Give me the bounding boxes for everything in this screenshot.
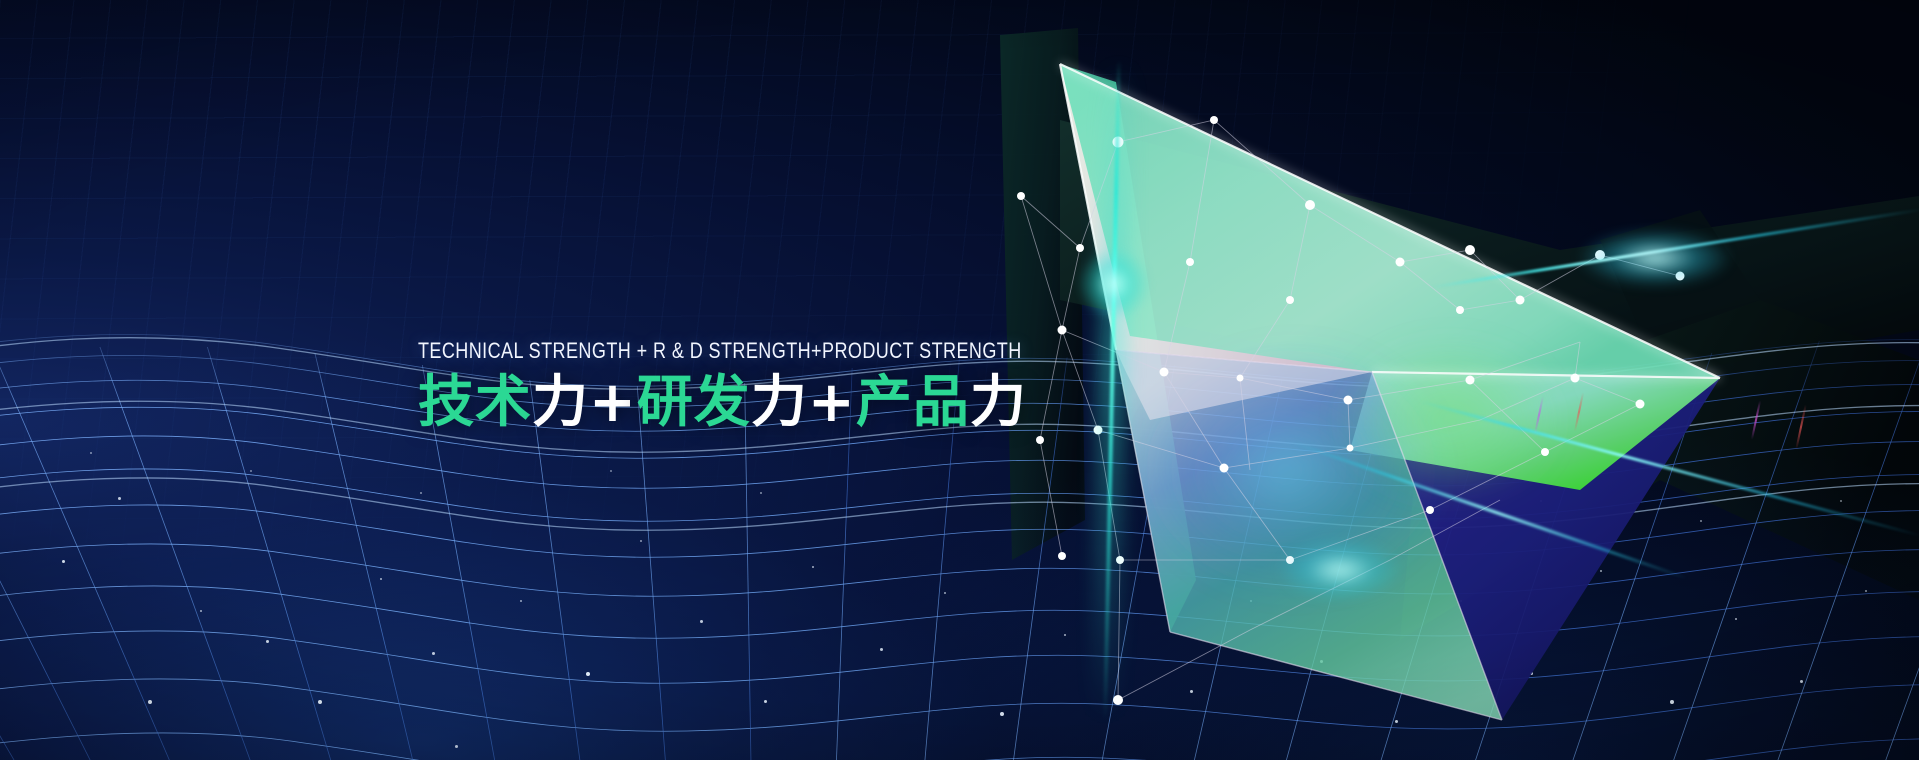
- headline-seg-7: 产品: [856, 370, 970, 435]
- headline-seg-3: +: [589, 370, 637, 435]
- headline-seg-2: 力: [532, 370, 589, 435]
- headline-seg-1: 技术: [418, 370, 532, 435]
- prism-green-blob: [1340, 340, 1560, 500]
- hero-headline: 技术力+研发力+产品力: [418, 372, 1154, 435]
- hero-eyebrow: TECHNICAL STRENGTH + R & D STRENGTH+PROD…: [418, 338, 1022, 364]
- hero-banner: TECHNICAL STRENGTH + R & D STRENGTH+PROD…: [0, 0, 1919, 760]
- headline-seg-4: 研发: [637, 370, 751, 435]
- headline-seg-5: 力: [751, 370, 808, 435]
- headline-seg-6: +: [808, 370, 856, 435]
- headline-seg-8: 力: [970, 370, 1027, 435]
- hero-copy: TECHNICAL STRENGTH + R & D STRENGTH+PROD…: [418, 338, 1154, 435]
